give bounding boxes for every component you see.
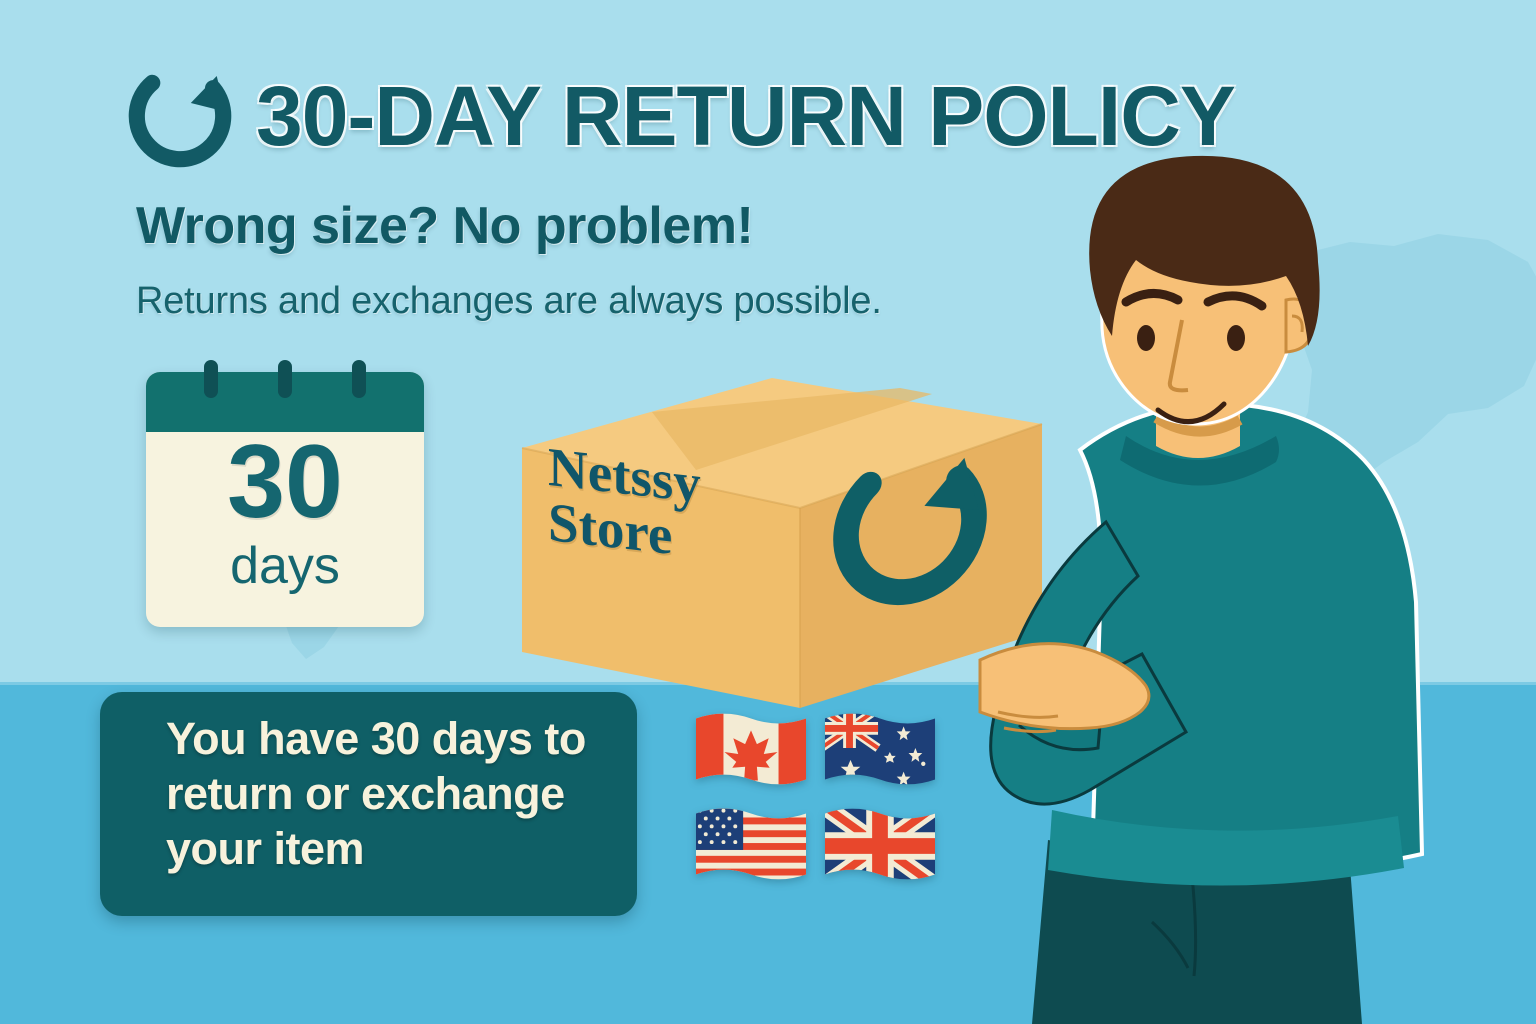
page-title: 30-DAY RETURN POLICY: [256, 74, 1235, 158]
calendar-ring: [352, 360, 366, 398]
info-banner: You have 30 days to return or exchange y…: [100, 692, 637, 916]
calendar-ring: [278, 360, 292, 398]
subtitle-primary: Wrong size? No problem!: [136, 196, 753, 256]
promo-banner-canvas: 30-DAY RETURN POLICY Wrong size? No prob…: [0, 0, 1536, 1024]
calendar-icon: 30 days: [146, 372, 424, 627]
person-holding-package: [930, 150, 1536, 1024]
return-arrow-icon: [126, 62, 234, 170]
calendar-day-unit: days: [146, 540, 424, 592]
calendar-day-number: 30: [146, 430, 424, 534]
flag-canada: [692, 708, 810, 794]
shipping-countries-flags: [692, 708, 944, 892]
flag-united-kingdom: [821, 803, 939, 889]
flag-australia: [821, 708, 939, 794]
calendar-ring: [204, 360, 218, 398]
flag-united-states: [692, 803, 810, 889]
subtitle-secondary: Returns and exchanges are always possibl…: [136, 280, 882, 323]
info-banner-text: You have 30 days to return or exchange y…: [166, 712, 636, 877]
